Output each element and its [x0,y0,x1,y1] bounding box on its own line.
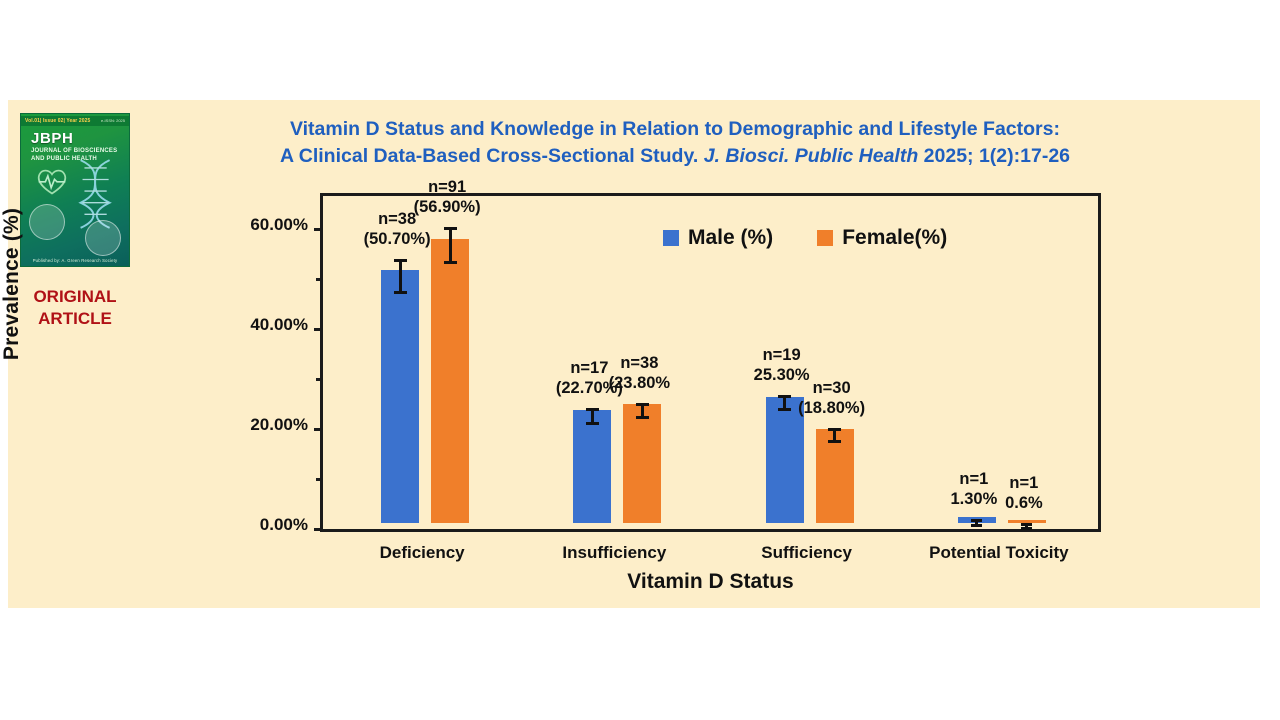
error-bar-cap-lower [828,440,841,443]
error-bar [399,260,402,292]
error-bar-cap-lower [394,291,407,294]
bar-value-label: n=91(56.90%) [367,177,527,217]
original-article-label: ORIGINAL ARTICLE [14,286,136,330]
x-axis-tick-label: Insufficiency [504,543,724,563]
legend-label: Female(%) [842,226,947,250]
microscope-badge-icon [85,220,121,256]
error-bar-cap-upper [586,408,599,411]
error-bar-cap-upper [636,403,649,406]
original-article-line-1: ORIGINAL [14,286,136,308]
medical-cross-badge-icon [29,204,65,240]
legend-swatch-icon [663,230,679,246]
error-bar-cap-lower [444,261,457,264]
bar-female[interactable] [623,404,661,523]
bar-male[interactable] [573,410,611,524]
cover-publisher: Published by: A. Green Research Society [21,258,129,263]
dna-helix-icon [69,158,127,230]
y-axis-tick [314,428,323,431]
error-bar-cap-lower [586,422,599,425]
x-axis-title: Vitamin D Status [320,570,1101,594]
citation-details: 2025; 1(2):17-26 [924,145,1070,167]
original-article-line-2: ARTICLE [14,308,136,330]
legend-label: Male (%) [688,226,773,250]
cover-issn: e-ISSN: 2025 [101,116,125,126]
y-axis-tick [314,528,323,531]
heartbeat-icon [35,166,69,196]
y-axis-tick [314,328,323,331]
bar-value-label-percent: 0.6% [944,493,1104,513]
bar-value-label-percent: (18.80%) [752,398,912,418]
y-axis-tick-label: 20.00% [190,415,308,435]
y-axis-minor-tick [316,278,323,281]
legend-item-female[interactable]: Female(%) [817,226,947,250]
bar-value-label: n=10.6% [944,473,1104,513]
x-axis-tick-label: Sufficiency [697,543,917,563]
bar-value-label-count: n=1 [944,473,1104,493]
bar-value-label-percent: (23.80% [559,373,719,393]
y-axis-title: Prevalence (%) [0,164,24,404]
bar-value-label-count: n=38 [559,353,719,373]
journal-cover-image: Vol.01| Issue 02| Year 2025 e-ISSN: 2025… [20,113,130,267]
x-axis-tick-label: Potential Toxicity [889,543,1109,563]
legend-item-male[interactable]: Male (%) [663,226,773,250]
bar-male[interactable] [381,270,419,524]
article-title-line-2-a: A Clinical Data-Based Cross-Sectional St… [280,145,698,167]
y-axis-minor-tick [316,378,323,381]
error-bar-cap-upper [1021,523,1032,526]
y-axis-minor-tick [316,478,323,481]
bar-value-label-count: n=19 [702,345,862,365]
journal-name: J. Biosci. Public Health [704,145,919,167]
bar-value-label: n=30(18.80%) [752,378,912,418]
error-bar-cap-upper [971,519,982,522]
bar-value-label: n=38(23.80% [559,353,719,393]
error-bar-cap-upper [394,259,407,262]
error-bar-cap-lower [971,524,982,527]
legend-swatch-icon [817,230,833,246]
cover-acronym: JBPH [31,130,73,147]
y-axis-tick-label: 40.00% [190,315,308,335]
bar-value-label-count: n=30 [752,378,912,398]
bar-female[interactable] [431,239,469,524]
error-bar-cap-lower [1021,527,1032,530]
article-title: Vitamin D Status and Knowledge in Relati… [170,116,1180,170]
article-title-line-1: Vitamin D Status and Knowledge in Relati… [170,116,1180,143]
x-axis-tick-label: Deficiency [312,543,532,563]
y-axis-tick-label: 60.00% [190,215,308,235]
error-bar-cap-upper [828,428,841,431]
slide-canvas: Vol.01| Issue 02| Year 2025 e-ISSN: 2025… [0,0,1280,720]
error-bar-cap-lower [636,416,649,419]
y-axis-tick-label: 0.00% [190,515,308,535]
chart-legend: Male (%)Female(%) [663,226,947,250]
bar-value-label-percent: (56.90%) [367,197,527,217]
error-bar [591,409,594,423]
bar-value-label-percent: (50.70%) [317,229,477,249]
article-title-line-2: A Clinical Data-Based Cross-Sectional St… [170,143,1180,170]
bar-value-label-count: n=91 [367,177,527,197]
bar-female[interactable] [816,429,854,523]
